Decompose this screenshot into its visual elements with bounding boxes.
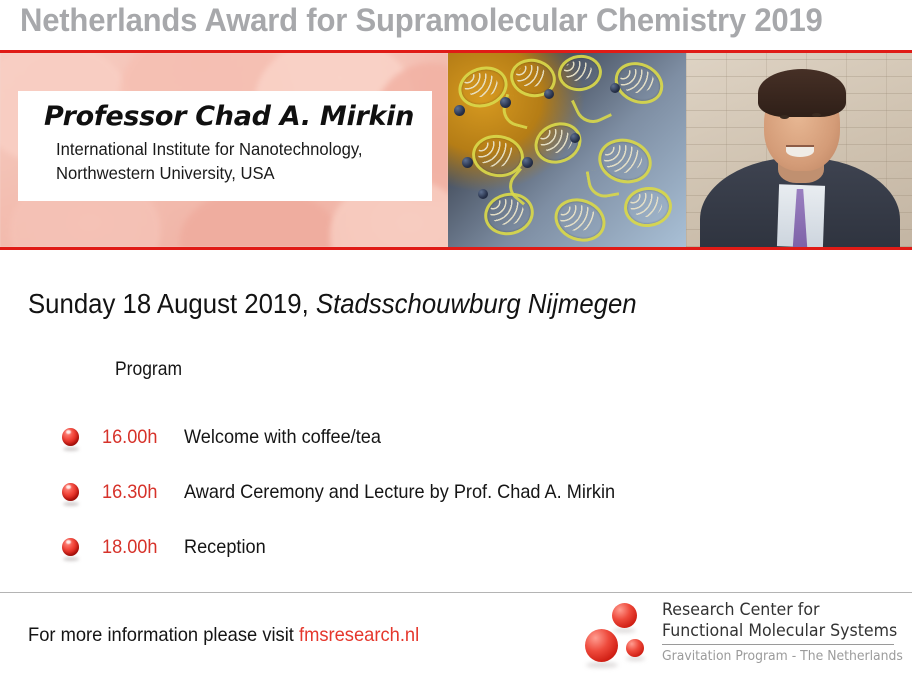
program-item-description: Welcome with coffee/tea: [184, 426, 381, 449]
affiliation-line-1: International Institute for Nanotechnolo…: [56, 138, 413, 161]
page-title: Netherlands Award for Supramolecular Che…: [20, 2, 823, 39]
event-date-venue: Sunday 18 August 2019, Stadsschouwburg N…: [28, 288, 637, 320]
program-item-time: 16.00h: [102, 426, 169, 449]
program-heading: Program: [115, 359, 182, 381]
more-information-label: For more information please visit: [28, 624, 299, 646]
more-information-text: For more information please visit fmsres…: [28, 624, 419, 647]
logo-subtitle: Gravitation Program - The Netherlands: [662, 648, 877, 664]
red-sphere-bullet-icon: [62, 483, 81, 503]
molecule-spheres-icon: [580, 600, 658, 668]
event-date: Sunday 18 August 2019,: [28, 288, 316, 319]
program-list: 16.00h Welcome with coffee/tea 16.30h Aw…: [62, 410, 822, 575]
website-link[interactable]: fmsresearch.nl: [299, 624, 419, 646]
title-bar: Netherlands Award for Supramolecular Che…: [0, 0, 912, 50]
footer-divider: [0, 592, 912, 593]
header-image-band: Professor Chad A. Mirkin International I…: [0, 50, 912, 250]
event-venue: Stadsschouwburg Nijmegen: [316, 288, 637, 319]
program-item-description: Reception: [184, 536, 266, 559]
speaker-name: Professor Chad A. Mirkin: [44, 101, 432, 133]
speaker-name-card: Professor Chad A. Mirkin International I…: [18, 91, 432, 201]
fms-logo: Research Center for Functional Molecular…: [580, 600, 896, 672]
program-item-time: 16.30h: [102, 481, 169, 504]
red-sphere-bullet-icon: [62, 428, 81, 448]
portrait-mouth: [786, 145, 814, 157]
dna-nanoparticles-photo: [448, 53, 686, 247]
red-sphere-bullet-icon: [62, 538, 81, 558]
program-item: 18.00h Reception: [62, 520, 822, 575]
portrait-hair: [758, 69, 846, 117]
program-item: 16.00h Welcome with coffee/tea: [62, 410, 822, 465]
logo-divider: [662, 644, 894, 645]
speaker-affiliation: International Institute for Nanotechnolo…: [44, 138, 432, 185]
program-item-time: 18.00h: [102, 536, 169, 559]
speaker-portrait-photo: [686, 53, 912, 247]
logo-line-2: Functional Molecular Systems: [662, 621, 880, 642]
program-item-description: Award Ceremony and Lecture by Prof. Chad…: [184, 481, 615, 504]
affiliation-line-2: Northwestern University, USA: [56, 162, 413, 185]
poster-root: Netherlands Award for Supramolecular Che…: [0, 0, 912, 679]
program-item: 16.30h Award Ceremony and Lecture by Pro…: [62, 465, 822, 520]
logo-line-1: Research Center for: [662, 600, 880, 621]
logo-text-block: Research Center for Functional Molecular…: [662, 600, 896, 664]
